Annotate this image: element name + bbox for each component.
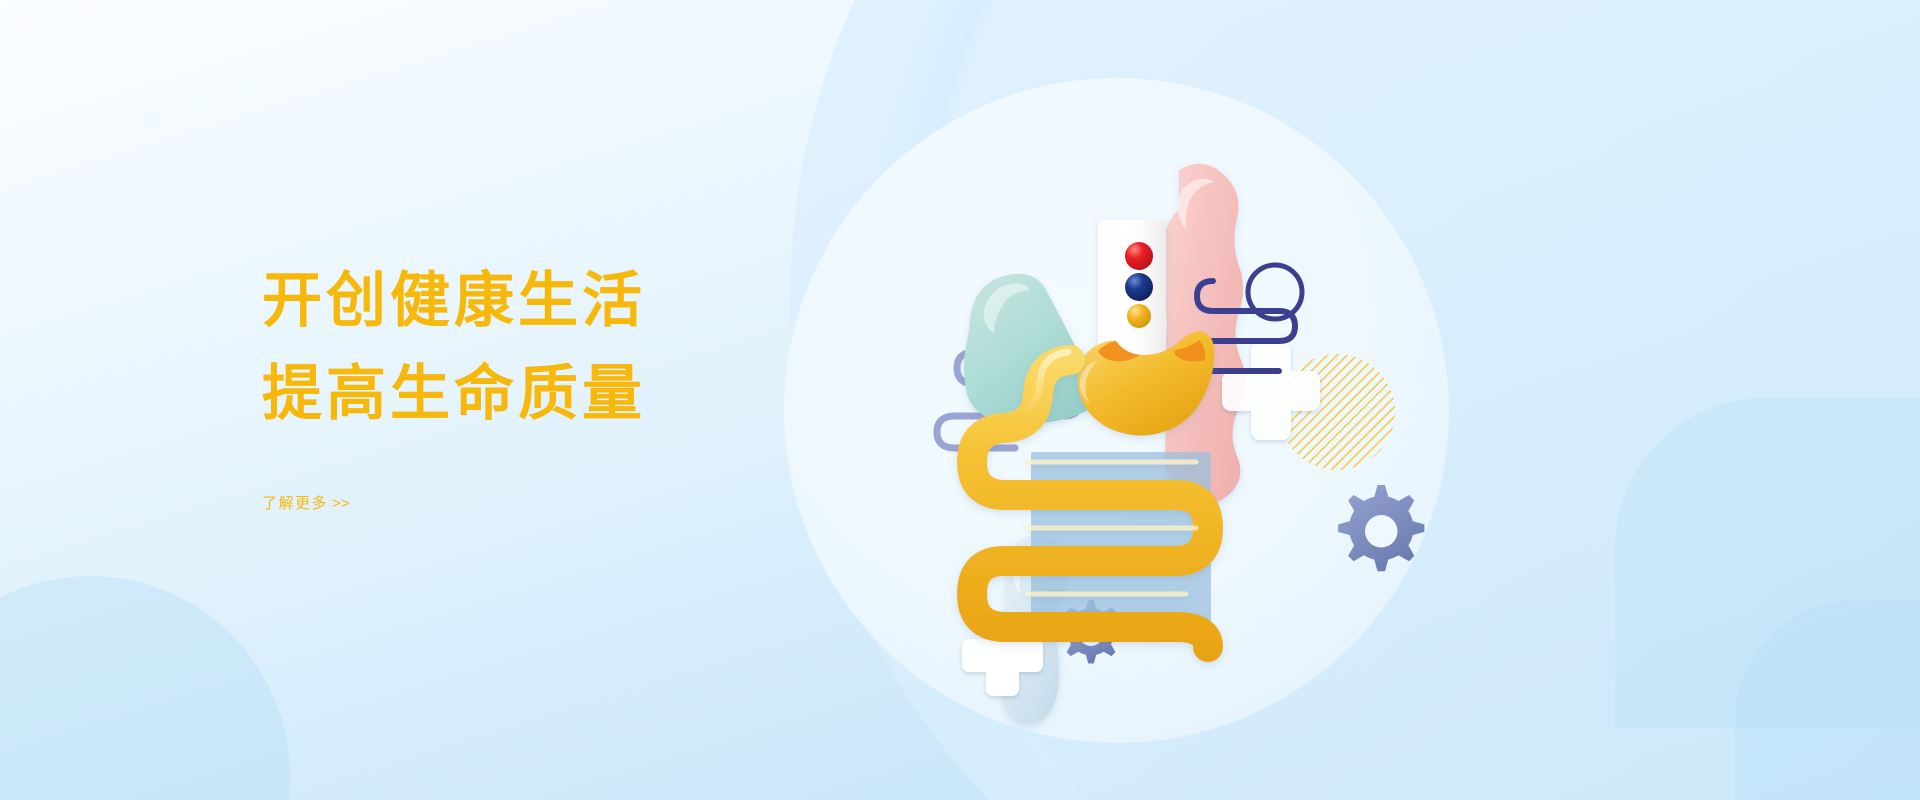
learn-more-label: 了解更多 [262, 495, 328, 512]
test-tube-ball-yellow [1127, 304, 1151, 328]
test-tube-ball-red [1125, 242, 1153, 270]
background-circle-bottom-left [0, 576, 290, 800]
test-tube-ball-navy [1125, 273, 1153, 301]
hero-banner: 开创健康生活 提高生命质量 了解更多>> [0, 0, 1920, 800]
gear-large-icon [1338, 485, 1424, 571]
illustration-svg [770, 60, 1470, 760]
blue-panel [1031, 452, 1211, 627]
learn-more-link[interactable]: 了解更多>> [262, 492, 350, 513]
digestive-system-illustration [770, 60, 1470, 760]
chevron-right-icon: >> [332, 495, 350, 512]
